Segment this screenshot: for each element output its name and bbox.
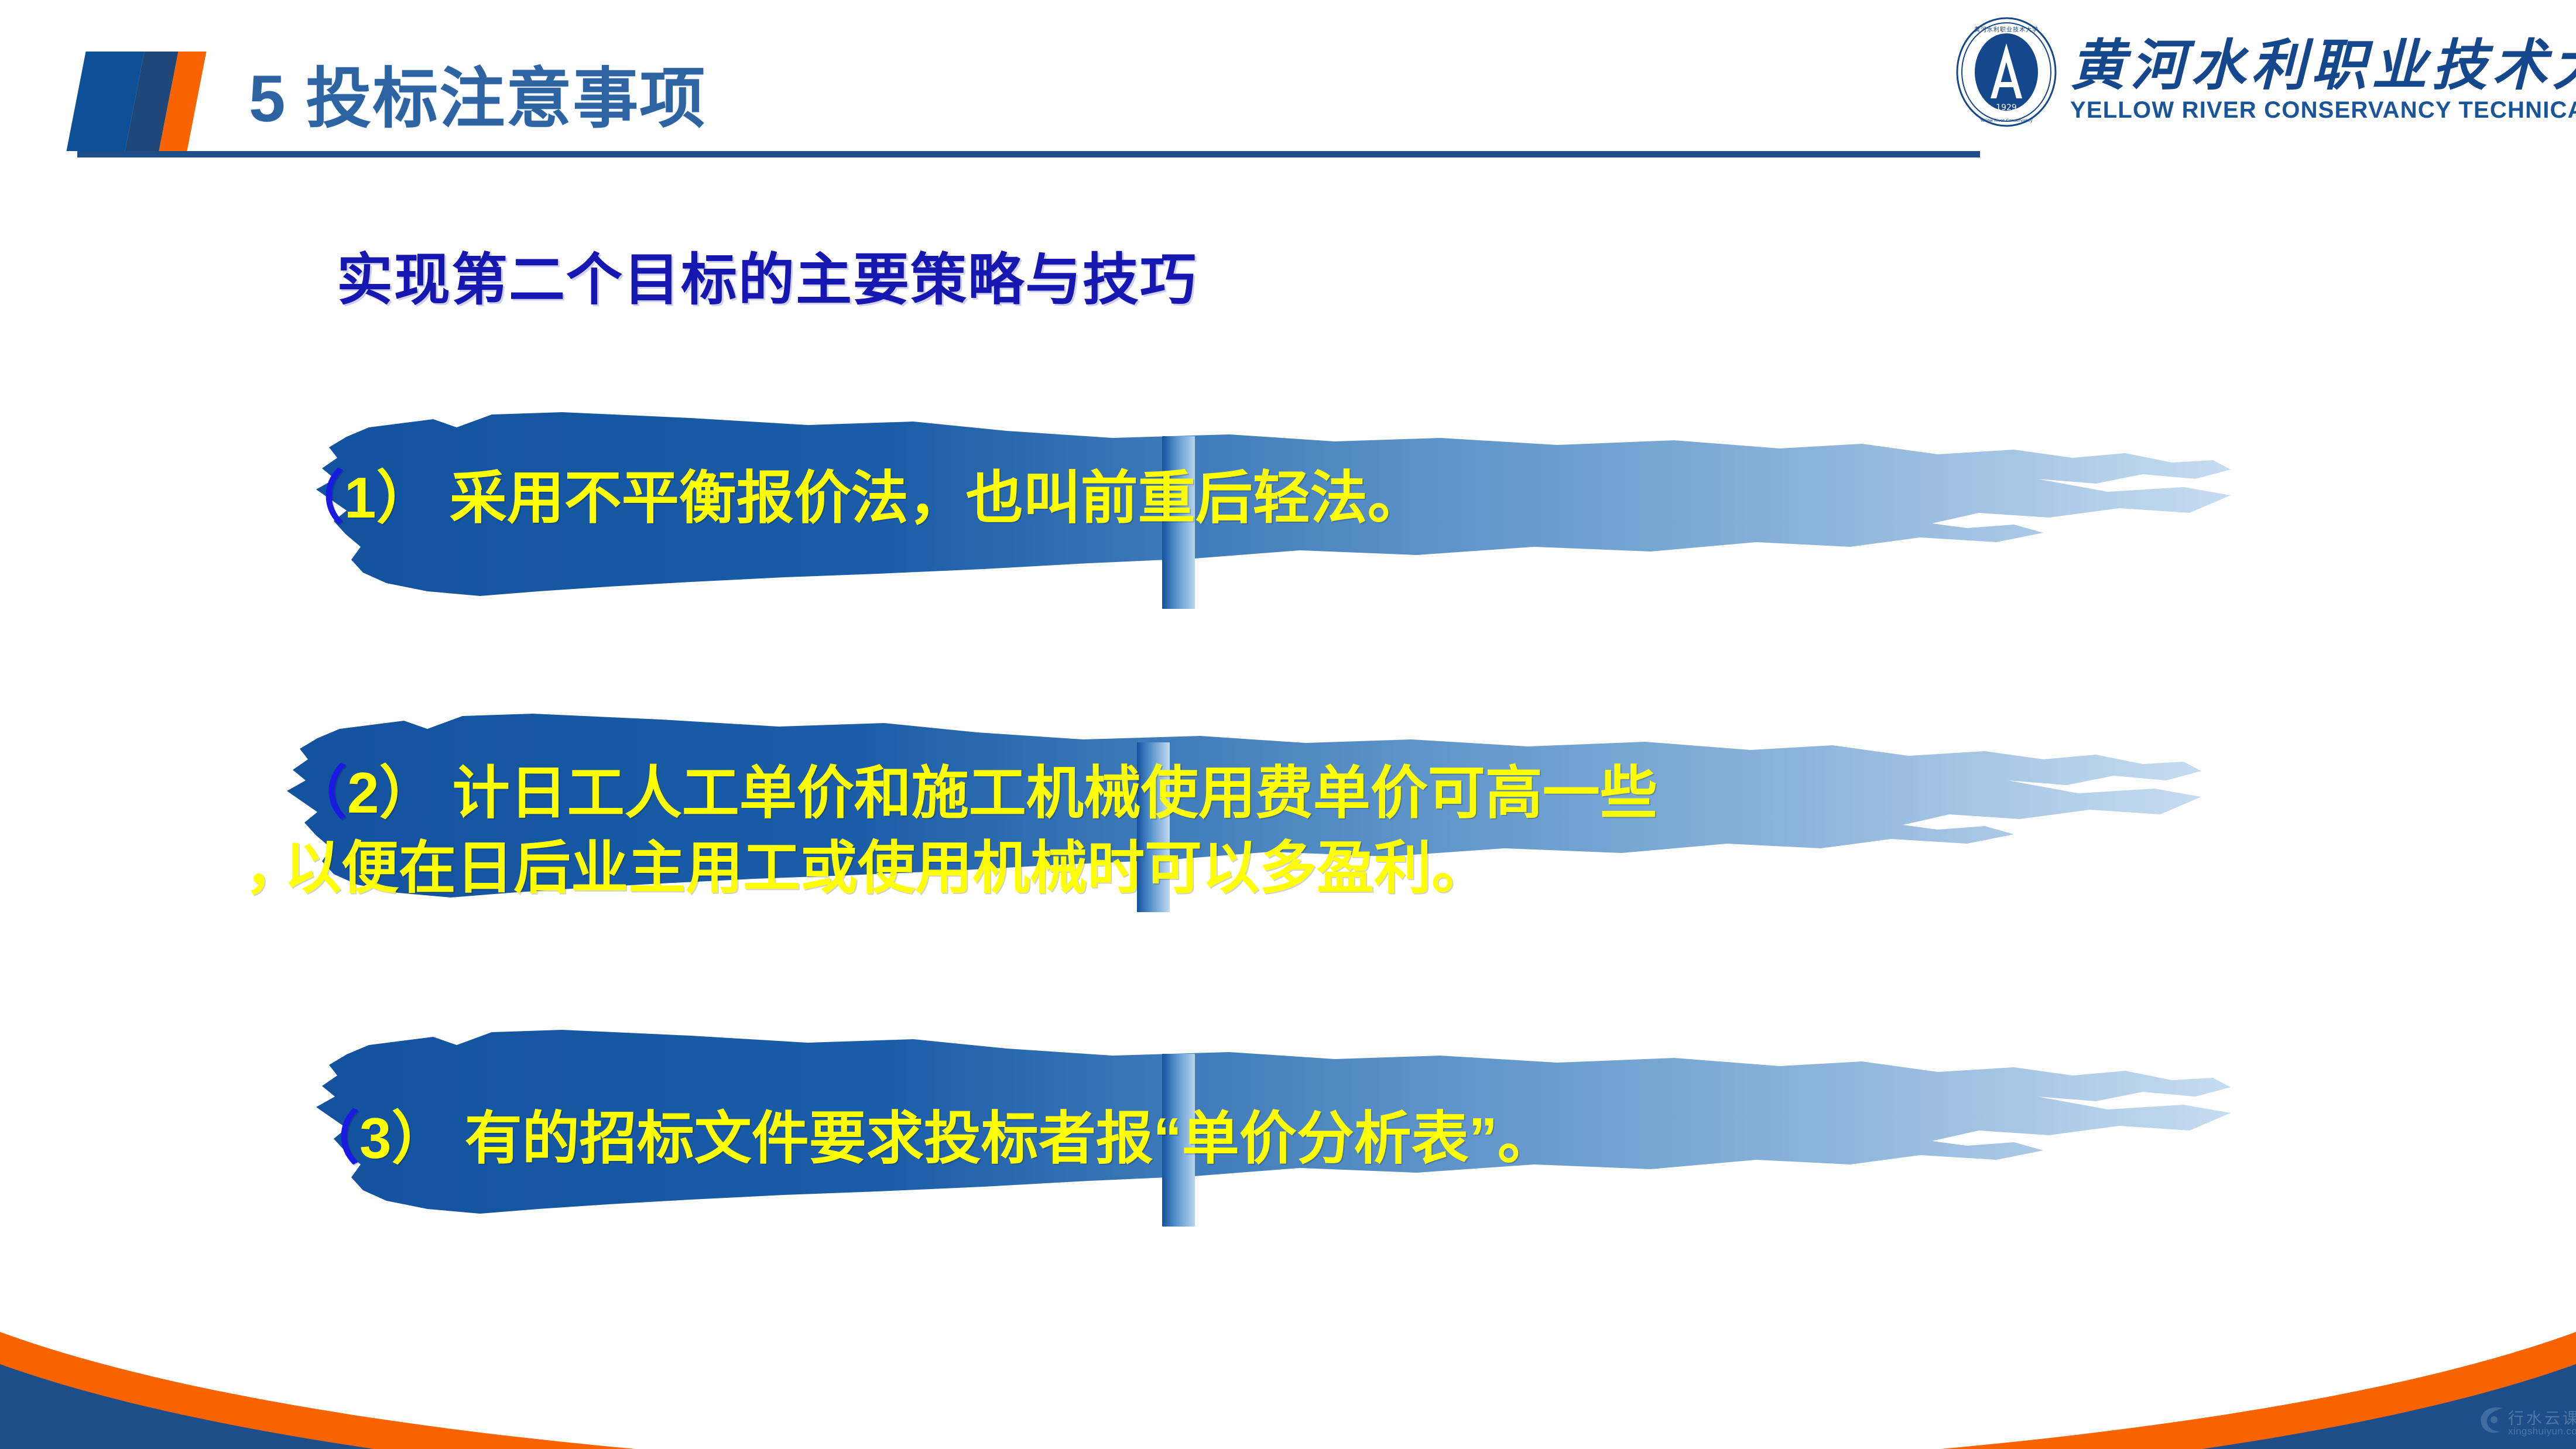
bullet-text-2-line-1: （2） 计日工人工单价和施工机械使用费单价可高一些: [290, 755, 1657, 830]
header-divider: [77, 151, 1980, 157]
footer-decoration: [0, 1273, 2576, 1449]
section-subtitle: 实现第二个目标的主要策略与技巧: [337, 234, 1197, 316]
header-accent-marks: [76, 52, 228, 151]
bullet-body-1: 1） 采用不平衡报价法，也叫前重后轻法。: [344, 465, 1425, 530]
bullet-body-3: 3） 有的招标文件要求投标者报“单价分析表”。: [359, 1106, 1555, 1170]
university-seal-icon: 1929 黄河水利职业技术大学 Yellow River Conservancy: [1955, 16, 2057, 128]
bullet-open-paren-1: （: [287, 465, 344, 530]
bullet-text-2-line-2: 以便在日后业主用工或使用机械时可以多盈利。: [284, 830, 1489, 905]
footer-orange-curve: [0, 1332, 2576, 1449]
university-logo: 1929 黄河水利职业技术大学 Yellow River Conservancy…: [1955, 8, 2544, 134]
bullet-open-paren-2: （: [290, 761, 347, 825]
bullet-body-2: 2） 计日工人工单价和施工机械使用费单价可高一些: [347, 761, 1657, 825]
watermark-url: xingshuiyun.com: [2508, 1426, 2576, 1437]
bullet-text-3: （3） 有的招标文件要求投标者报“单价分析表”。: [302, 1101, 1555, 1176]
bullet-text-1: （1） 采用不平衡报价法，也叫前重后轻法。: [287, 460, 1425, 535]
svg-text:黄河水利职业技术大学: 黄河水利职业技术大学: [1974, 26, 2039, 33]
site-watermark: 行水云课 xingshuiyun.com: [2474, 1390, 2572, 1447]
page-title: 5 投标注意事项: [249, 46, 706, 141]
university-name-cn: 黄河水利职业技术大学: [2070, 21, 2576, 101]
university-name-en: YELLOW RIVER CONSERVANCY TECHNICAL UNIVE…: [2070, 97, 2576, 124]
bullet-open-paren-3: （: [302, 1106, 359, 1170]
wave-icon: [2476, 1402, 2507, 1436]
slide-root: 5 投标注意事项 1929 黄河水利职业技术大学 Yellow River Co…: [0, 0, 2576, 1449]
svg-text:1929: 1929: [1996, 103, 2017, 112]
svg-text:Yellow River Conservancy: Yellow River Conservancy: [1979, 118, 2032, 123]
